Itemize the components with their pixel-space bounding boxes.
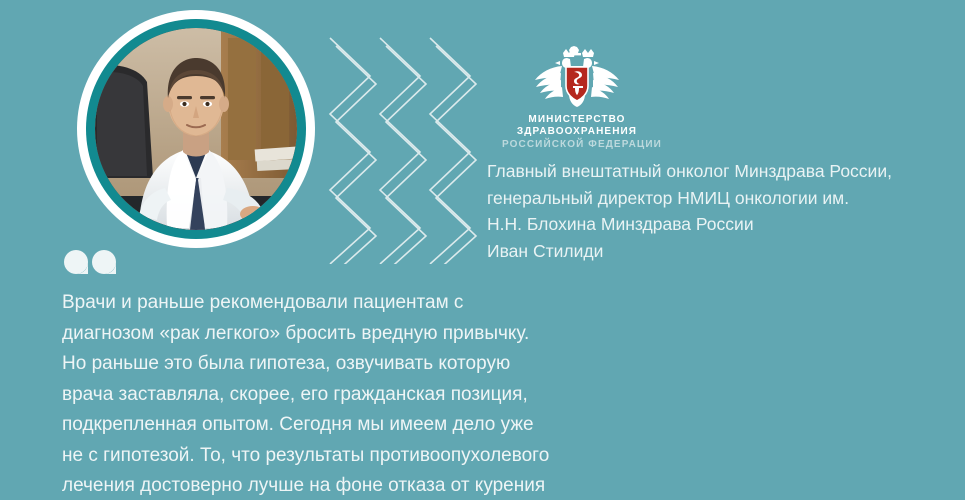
quote-line: Врачи и раньше рекомендовали пациентам с (62, 288, 682, 319)
quote-line: Но раньше это была гипотеза, озвучивать … (62, 349, 682, 380)
avatar-ring (86, 19, 306, 239)
avatar (77, 10, 315, 248)
quote-line: лечения достоверно лучше на фоне отказа … (62, 471, 682, 500)
quote-line: врача заставляла, скорее, его гражданска… (62, 380, 682, 411)
avatar-photo (95, 28, 297, 230)
russian-double-headed-eagle-emblem (502, 46, 652, 108)
chevron-pattern (318, 16, 488, 264)
ministry-line-1: МИНИСТЕРСТВО (502, 114, 652, 126)
attribution-line: Иван Стилиди (487, 238, 957, 265)
quote-text: Врачи и раньше рекомендовали пациентам с… (62, 288, 682, 500)
ministry-line-2: ЗДРАВООХРАНЕНИЯ (502, 126, 652, 138)
ministry-logo: МИНИСТЕРСТВО ЗДРАВООХРАНЕНИЯ РОССИЙСКОЙ … (502, 46, 652, 151)
ministry-line-3: РОССИЙСКОЙ ФЕДЕРАЦИИ (502, 138, 652, 151)
attribution-line: Н.Н. Блохина Минздрава России (487, 211, 957, 238)
quote-card: МИНИСТЕРСТВО ЗДРАВООХРАНЕНИЯ РОССИЙСКОЙ … (0, 0, 965, 500)
attribution: Главный внештатный онколог Минздрава Рос… (487, 158, 957, 264)
quote-line: не с гипотезой. То, что результаты проти… (62, 441, 682, 472)
attribution-line: генеральный директор НМИЦ онкологии им. (487, 185, 957, 212)
quote-line: подкрепленная опытом. Сегодня мы имеем д… (62, 410, 682, 441)
quote-line: диагнозом «рак легкого» бросить вредную … (62, 319, 682, 350)
quote-mark-icon (62, 248, 122, 288)
attribution-line: Главный внештатный онколог Минздрава Рос… (487, 158, 957, 185)
